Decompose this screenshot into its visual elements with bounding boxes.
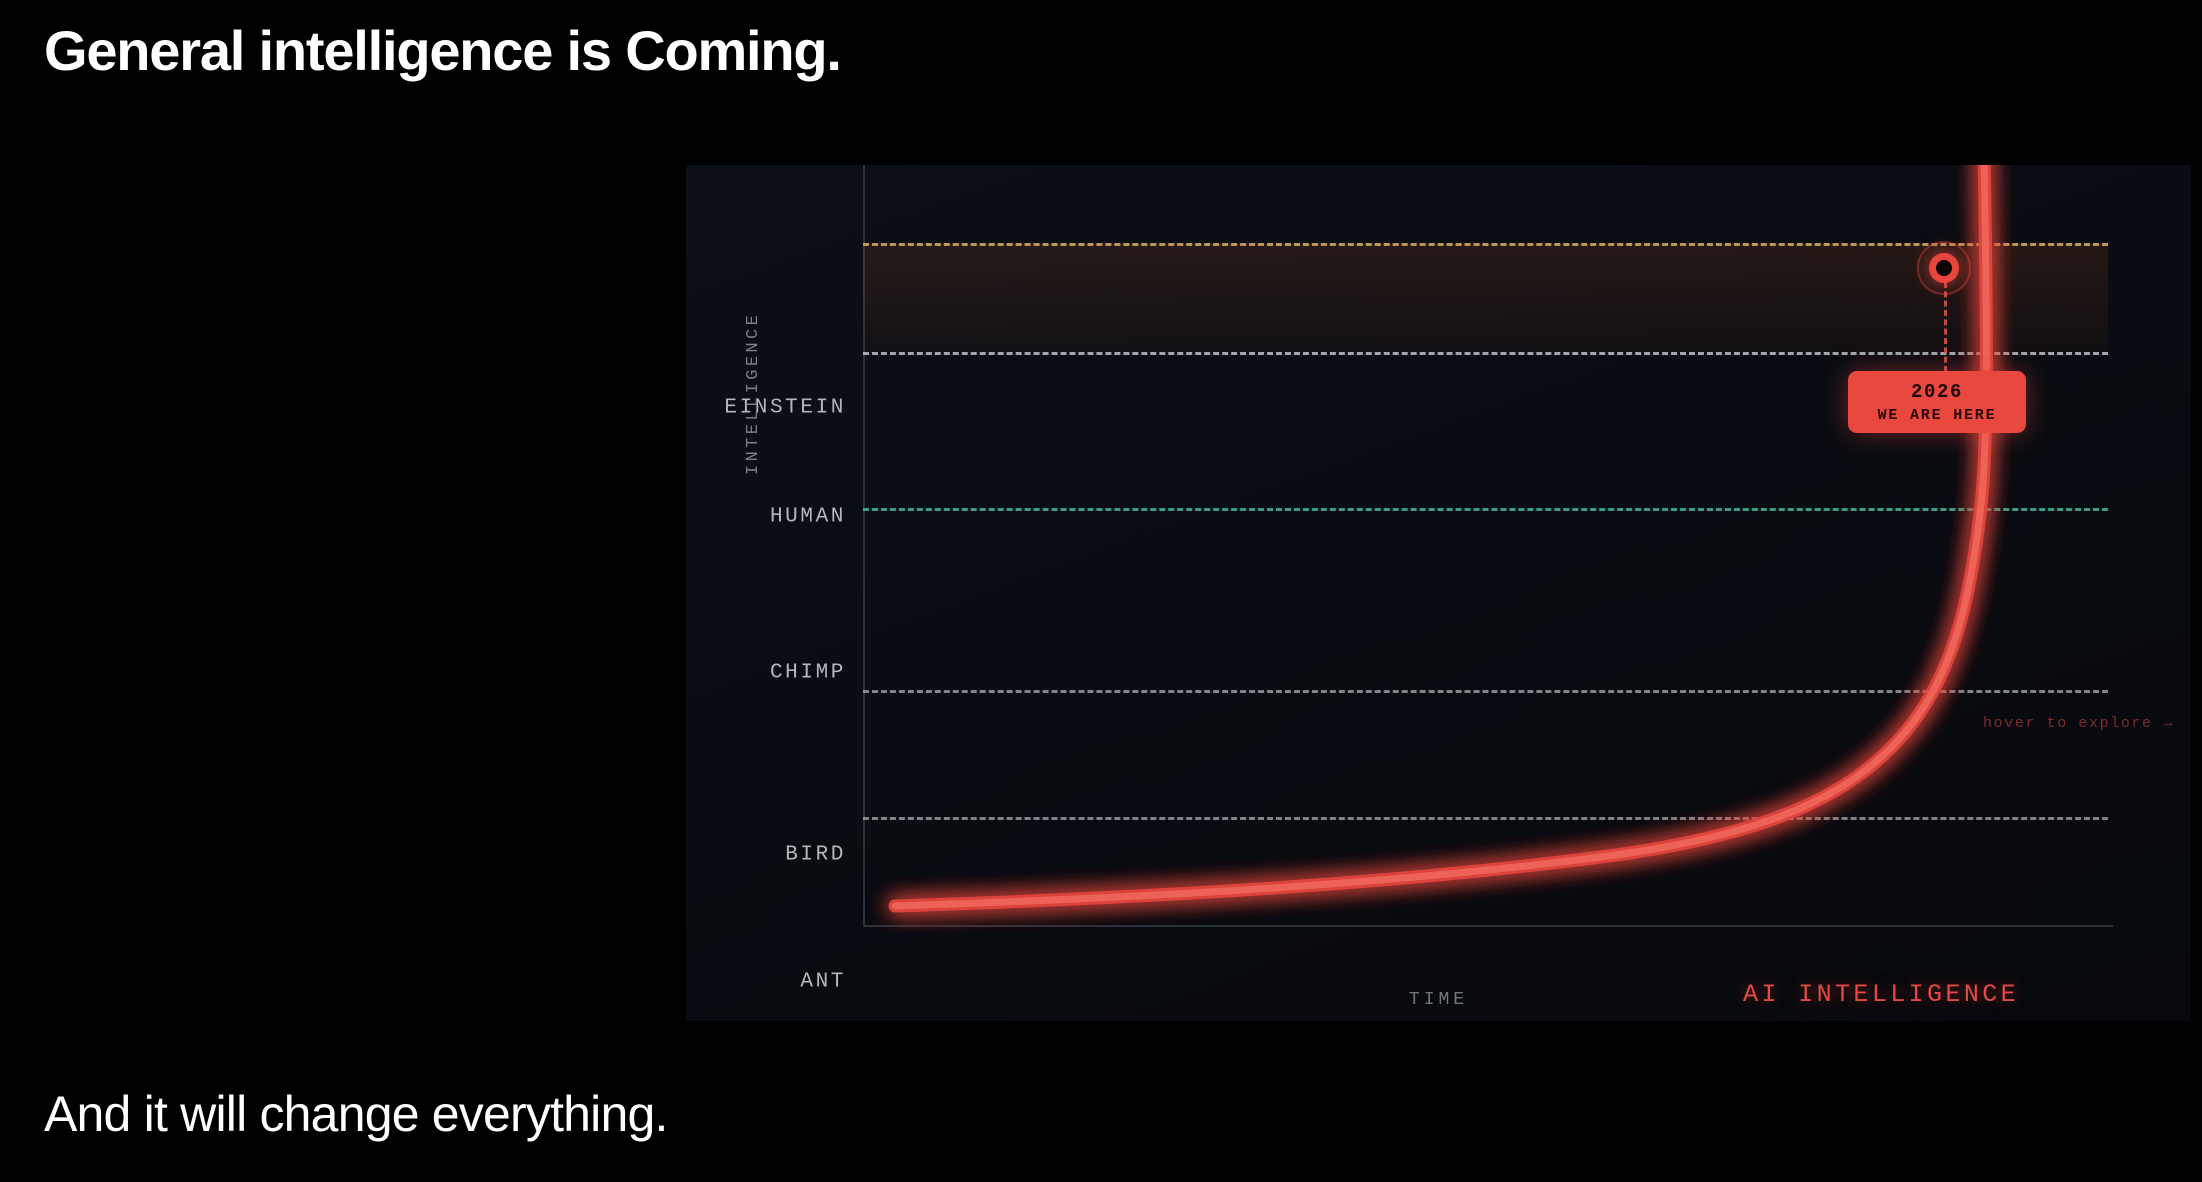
callout-year-label: 2026 [1911, 381, 1963, 403]
page-title: General intelligence is Coming. [44, 18, 841, 83]
marker-connector-line [1944, 282, 1947, 372]
marker-core-dot [1936, 260, 1952, 276]
callout-caption-label: WE ARE HERE [1878, 407, 1997, 424]
we-are-here-callout[interactable]: 2026 WE ARE HERE [1848, 371, 2026, 433]
series-label-ai-intelligence: AI INTELLIGENCE [1743, 980, 2019, 1009]
ai-intelligence-curve [686, 165, 2191, 1021]
page-subtitle: And it will change everything. [44, 1085, 668, 1143]
intelligence-chart-panel[interactable]: EINSTEIN HUMAN CHIMP BIRD ANT INTELLIGEN… [686, 165, 2191, 1021]
hover-hint-text: hover to explore → [1983, 715, 2174, 732]
slide-root: General intelligence is Coming. EINSTEIN… [0, 0, 2202, 1182]
